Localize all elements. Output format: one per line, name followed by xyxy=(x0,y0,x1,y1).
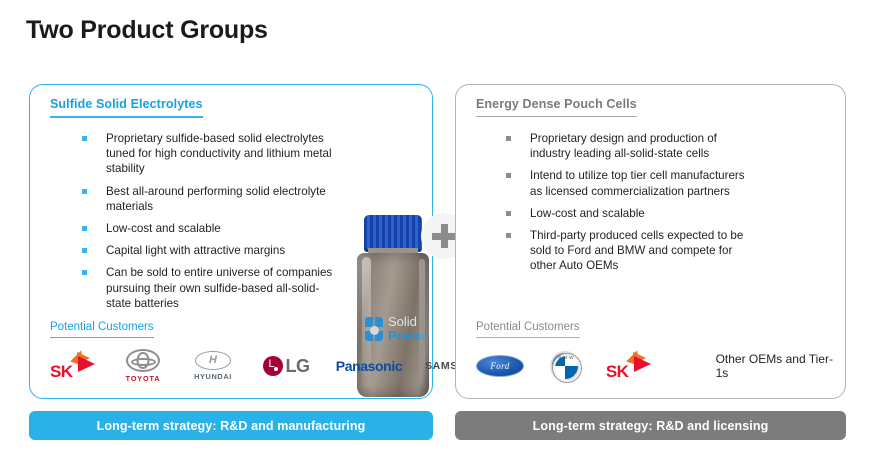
sk-logo-text: SK xyxy=(606,362,628,382)
left-bullet-list: Proprietary sulfide-based solid electrol… xyxy=(82,131,344,318)
hyundai-logo: H HYUNDAI xyxy=(184,349,242,383)
sk-logo: SK xyxy=(606,349,658,383)
bullet-item: Low-cost and scalable xyxy=(506,206,756,221)
panasonic-logo: Panasonic xyxy=(330,350,408,382)
bmw-logo-text: BMW xyxy=(552,355,582,360)
bullet-item: Proprietary sulfide-based solid electrol… xyxy=(82,131,344,177)
left-potential-customers-label: Potential Customers xyxy=(50,321,154,338)
bmw-logo: BMW xyxy=(548,349,582,383)
bullet-item: Best all-around performing solid electro… xyxy=(82,184,344,214)
bullet-item: Intend to utilize top tier cell manufact… xyxy=(506,168,756,198)
right-potential-customers-label: Potential Customers xyxy=(476,321,580,338)
slide-root: Two Product Groups Sulfide Solid Electro… xyxy=(0,0,876,453)
brand-line-1: Solid xyxy=(388,314,417,329)
ford-logo-text: Ford xyxy=(490,361,509,371)
bullet-item: Low-cost and scalable xyxy=(82,221,344,236)
page-title: Two Product Groups xyxy=(26,16,268,45)
lg-logo-text: LG xyxy=(286,356,310,377)
left-strategy-banner: Long-term strategy: R&D and manufacturin… xyxy=(29,411,433,440)
lg-logo: LG xyxy=(256,350,316,382)
toyota-logo: TOYOTA xyxy=(116,349,170,383)
other-oems-text: Other OEMs and Tier-1s xyxy=(716,352,845,380)
ford-mark-icon: Ford xyxy=(476,355,524,377)
left-card-heading: Sulfide Solid Electrolytes xyxy=(50,97,203,118)
ford-logo: Ford xyxy=(476,353,524,379)
toyota-logo-text: TOYOTA xyxy=(126,374,161,383)
solid-power-mark-icon xyxy=(365,317,385,343)
right-bullet-list: Proprietary design and production of ind… xyxy=(506,131,756,281)
jar-cap xyxy=(364,215,422,252)
right-customer-logos: Ford BMW SK Other OEMs and Tier-1s xyxy=(476,349,845,383)
left-customer-logos: SK TOYOTA H HYUNDAI LG Panasonic SAMSUNG xyxy=(50,349,486,383)
hyundai-logo-text: HYUNDAI xyxy=(194,372,232,381)
bullet-item: Third-party produced cells expected to b… xyxy=(506,228,756,274)
hyundai-mark-icon: H xyxy=(195,351,231,370)
toyota-mark-icon xyxy=(126,349,160,372)
panasonic-logo-text: Panasonic xyxy=(336,358,402,374)
bullet-item: Capital light with attractive margins xyxy=(82,243,344,258)
bmw-mark-icon: BMW xyxy=(550,351,580,381)
right-product-card: Energy Dense Pouch Cells Proprietary des… xyxy=(455,84,846,399)
bullet-item: Can be sold to entire universe of compan… xyxy=(82,265,344,311)
right-card-heading: Energy Dense Pouch Cells xyxy=(476,97,637,117)
sk-logo-text: SK xyxy=(50,362,72,382)
bullet-item: Proprietary design and production of ind… xyxy=(506,131,756,161)
sk-logo: SK xyxy=(50,349,102,383)
brand-line-2: Power xyxy=(388,328,427,343)
lg-mark-icon xyxy=(263,356,283,376)
right-strategy-banner: Long-term strategy: R&D and licensing xyxy=(455,411,846,440)
left-product-card: Sulfide Solid Electrolytes Proprietary s… xyxy=(29,84,433,399)
